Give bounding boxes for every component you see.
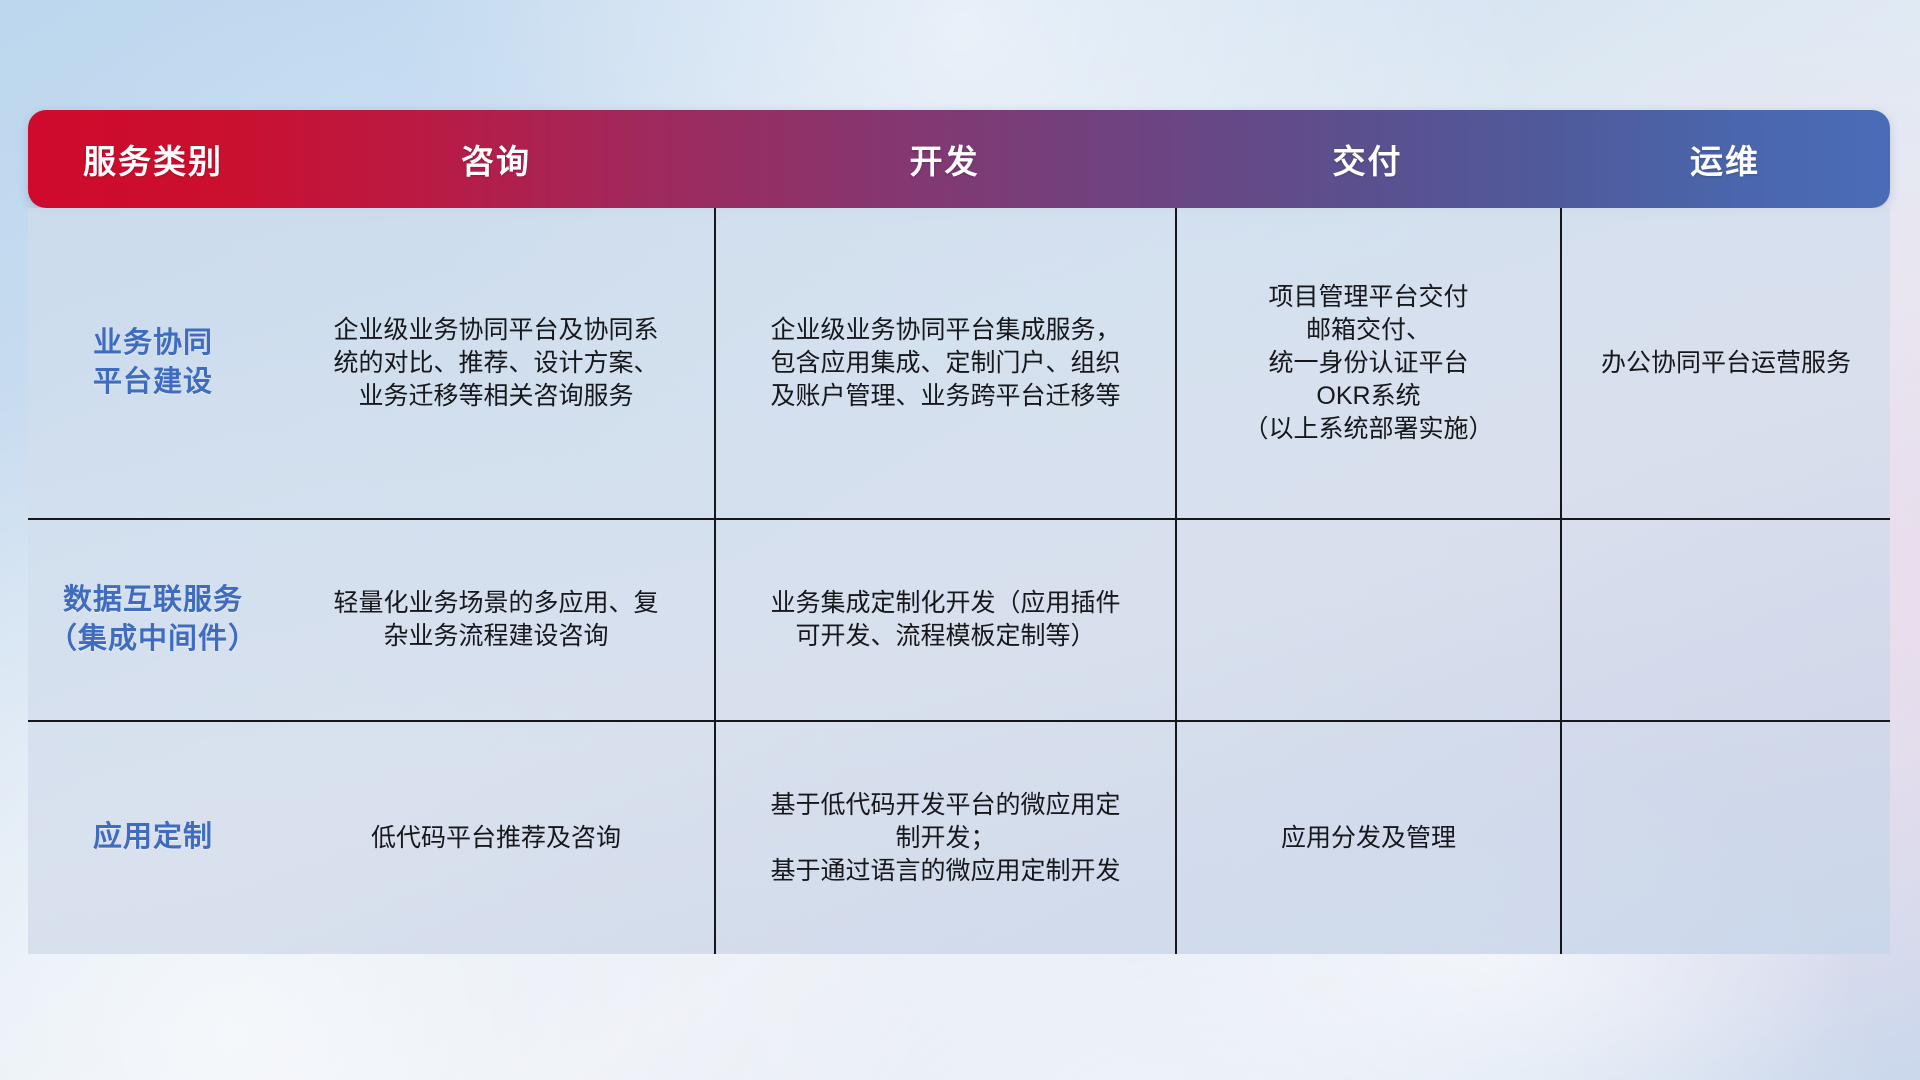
cell-operations — [1560, 520, 1890, 720]
cell-delivery: 应用分发及管理 — [1175, 722, 1560, 954]
column-header-consulting: 咨询 — [278, 110, 714, 208]
table-row: 应用定制 低代码平台推荐及咨询 基于低代码开发平台的微应用定 制开发； 基于通过… — [28, 720, 1890, 954]
row-label: 应用定制 — [28, 722, 278, 954]
cell-consulting: 轻量化业务场景的多应用、复 杂业务流程建设咨询 — [278, 520, 714, 720]
cell-consulting: 企业级业务协同平台及协同系 统的对比、推荐、设计方案、 业务迁移等相关咨询服务 — [278, 208, 714, 518]
cell-delivery — [1175, 520, 1560, 720]
cell-operations — [1560, 722, 1890, 954]
service-matrix-table: 服务类别 咨询 开发 交付 运维 业务协同 平台建设 企业级业务协同平台及协同系… — [28, 110, 1890, 954]
row-label: 业务协同 平台建设 — [28, 208, 278, 518]
table-row: 业务协同 平台建设 企业级业务协同平台及协同系 统的对比、推荐、设计方案、 业务… — [28, 208, 1890, 518]
cell-development: 基于低代码开发平台的微应用定 制开发； 基于通过语言的微应用定制开发 — [714, 722, 1175, 954]
cell-delivery: 项目管理平台交付 邮箱交付、 统一身份认证平台 OKR系统 （以上系统部署实施） — [1175, 208, 1560, 518]
table-body: 业务协同 平台建设 企业级业务协同平台及协同系 统的对比、推荐、设计方案、 业务… — [28, 208, 1890, 954]
cell-operations: 办公协同平台运营服务 — [1560, 208, 1890, 518]
table-header-row: 服务类别 咨询 开发 交付 运维 — [28, 110, 1890, 208]
column-header-development: 开发 — [714, 110, 1175, 208]
cell-consulting: 低代码平台推荐及咨询 — [278, 722, 714, 954]
cell-development: 企业级业务协同平台集成服务， 包含应用集成、定制门户、组织 及账户管理、业务跨平… — [714, 208, 1175, 518]
row-label: 数据互联服务 （集成中间件） — [28, 520, 278, 720]
column-header-operations: 运维 — [1560, 110, 1890, 208]
column-header-delivery: 交付 — [1175, 110, 1560, 208]
table-row: 数据互联服务 （集成中间件） 轻量化业务场景的多应用、复 杂业务流程建设咨询 业… — [28, 518, 1890, 720]
column-header-service-category: 服务类别 — [28, 110, 278, 208]
cell-development: 业务集成定制化开发（应用插件 可开发、流程模板定制等） — [714, 520, 1175, 720]
